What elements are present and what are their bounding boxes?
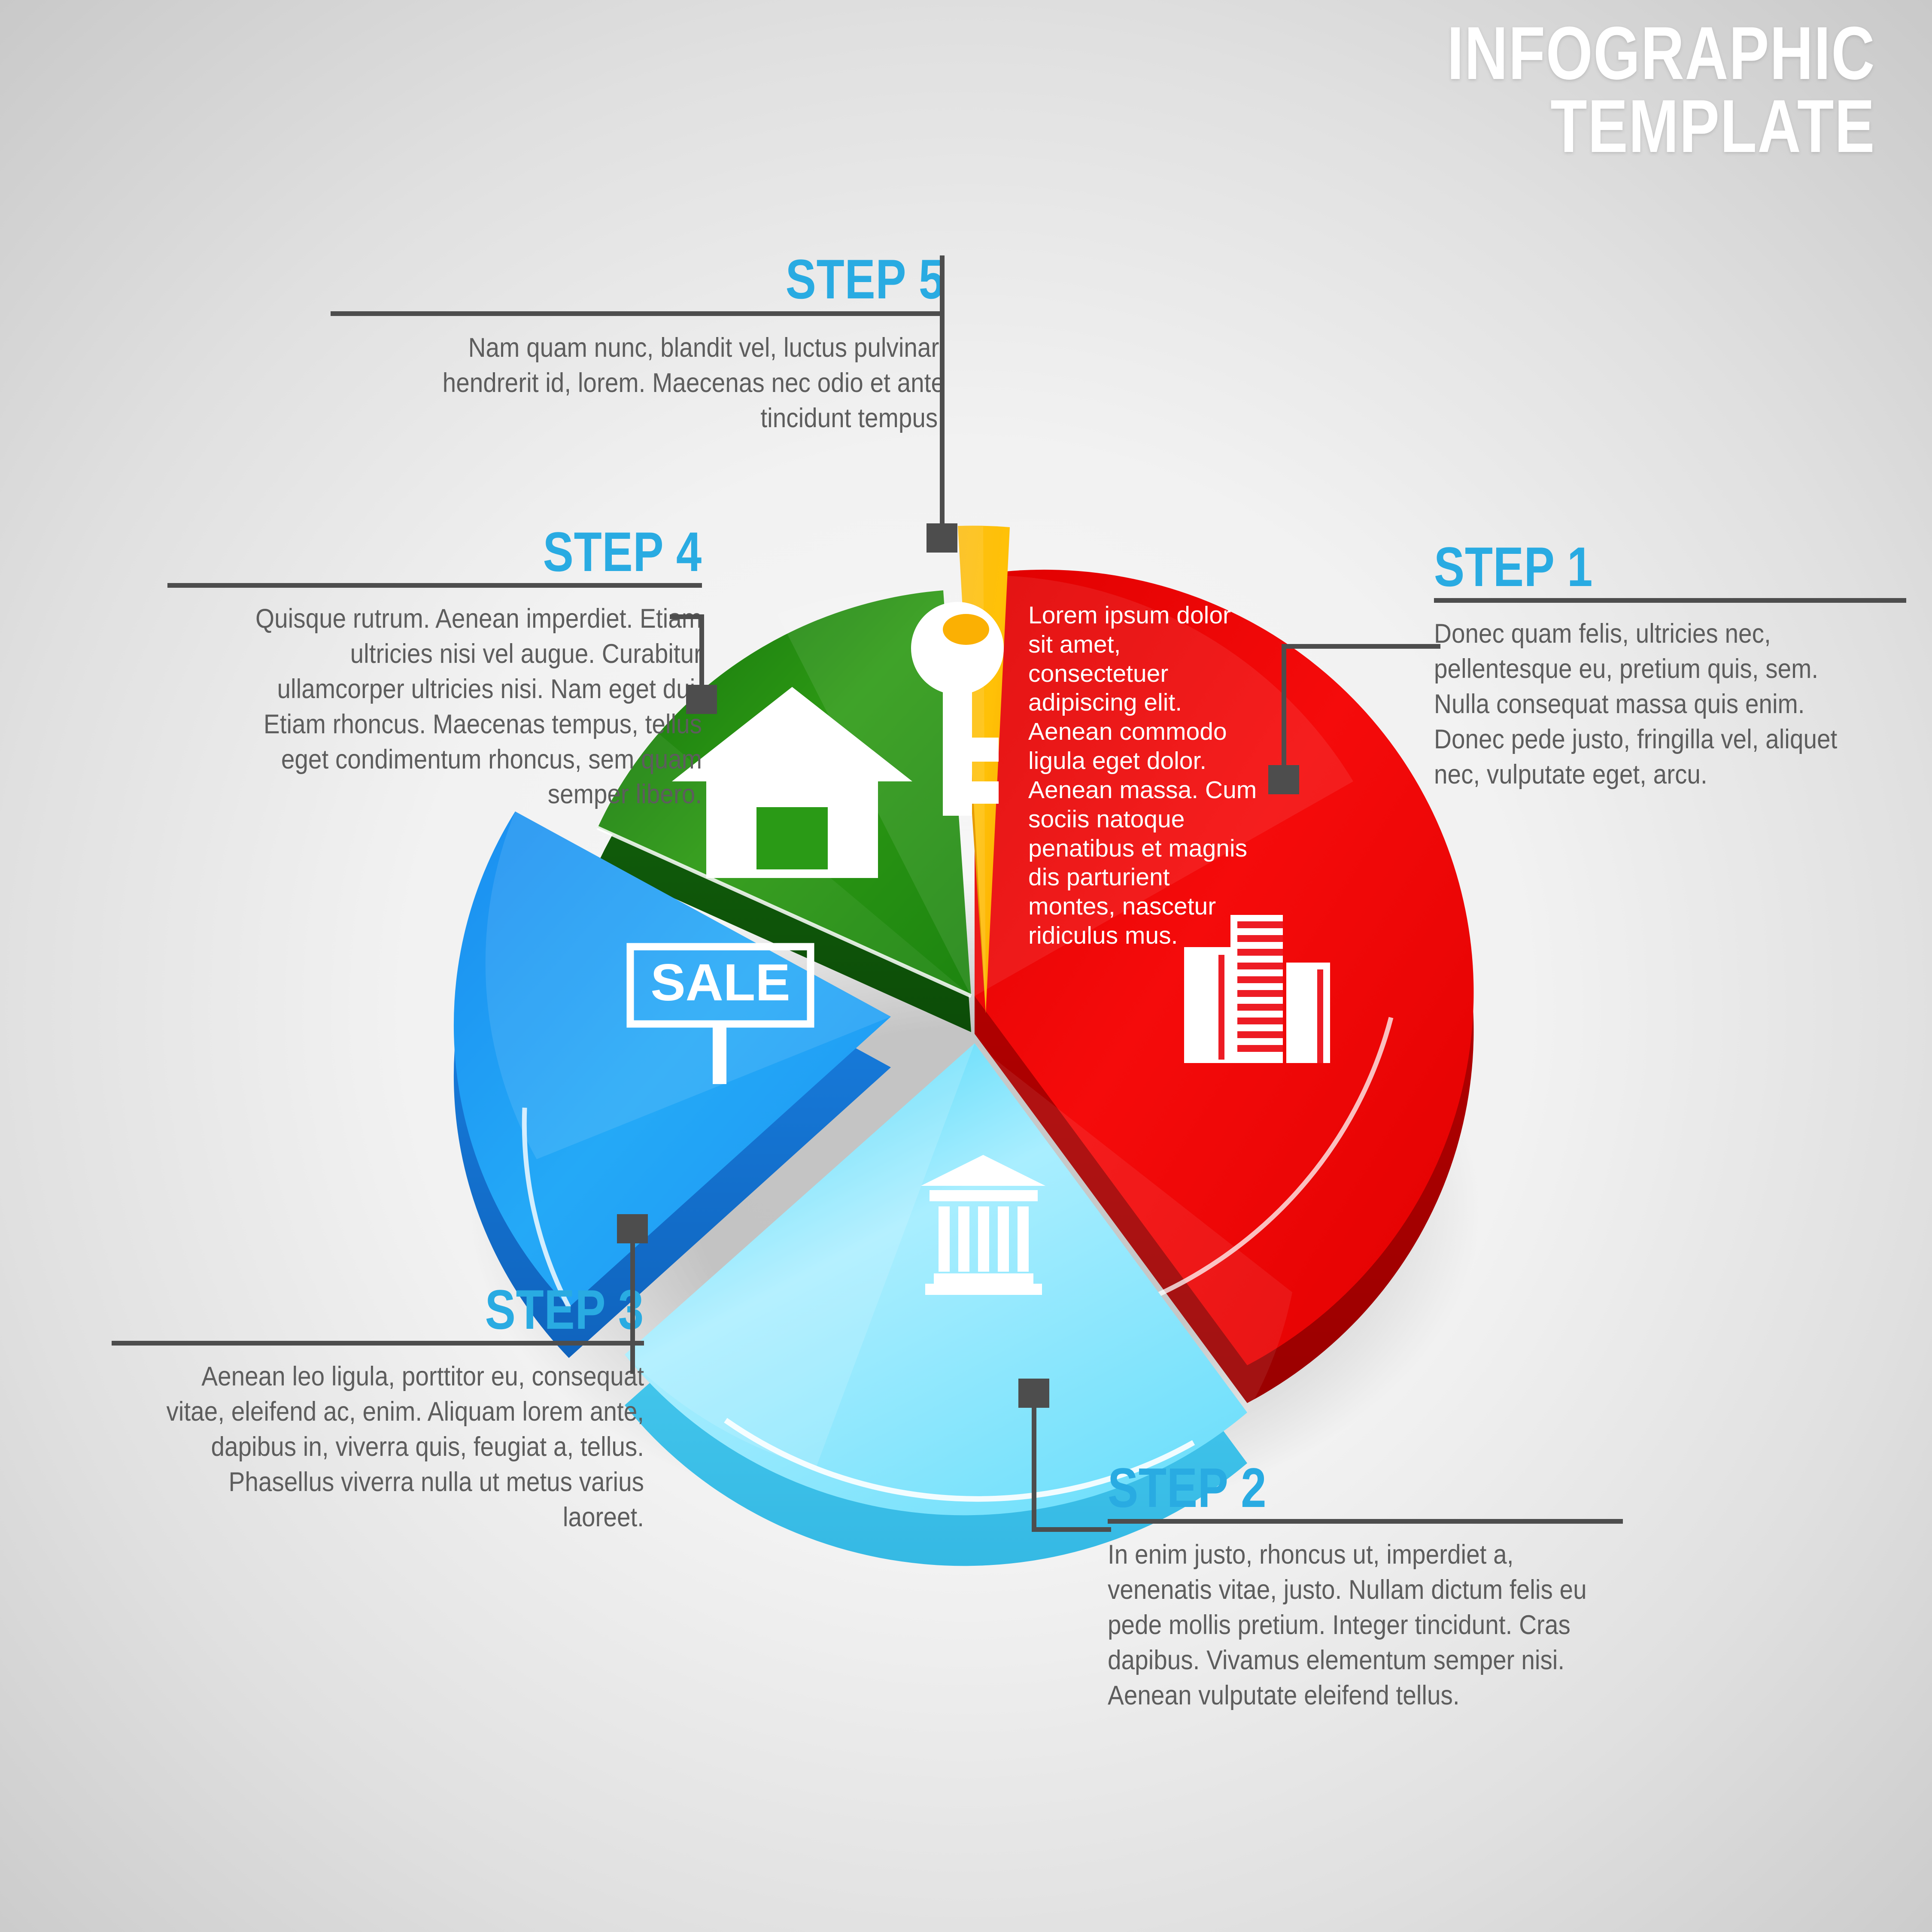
step-5-body: Nam quam nunc, blandit vel, luctus pulvi… xyxy=(392,331,945,436)
step-5-heading: STEP 5 xyxy=(441,251,945,307)
slice-callout-text: Lorem ipsum dolor sit amet, consectetuer… xyxy=(1028,601,1260,951)
sale-sign-label: SALE xyxy=(650,953,790,1012)
page-title-line-2: TEMPLATE xyxy=(1447,90,1875,163)
step-1-connector-h xyxy=(1282,644,1440,649)
step-4-connector-h xyxy=(670,614,704,619)
step-3-connector xyxy=(630,1224,635,1374)
step-2-connector-h xyxy=(1032,1527,1111,1532)
step-4-block: STEP 4 Quisque rutrum. Aenean imperdiet.… xyxy=(167,524,702,812)
page-title-line-1: INFOGRAPHIC xyxy=(1447,12,1875,95)
step-5-rule xyxy=(331,311,945,316)
step-1-block: STEP 1 Donec quam felis, ultricies nec, … xyxy=(1434,539,1906,792)
infographic-canvas: SALE xyxy=(0,0,1932,1932)
step-2-connector-v xyxy=(1032,1406,1036,1532)
step-2-body: In enim justo, rhoncus ut, imperdiet a, … xyxy=(1108,1537,1587,1713)
step-1-rule xyxy=(1434,598,1906,603)
step-3-rule xyxy=(112,1341,644,1346)
step-1-marker xyxy=(1268,765,1299,794)
pie-chart: SALE xyxy=(0,0,1932,1932)
step-3-body: Aenean leo ligula, porttitor eu, consequ… xyxy=(165,1359,644,1535)
step-5-connector xyxy=(940,255,945,526)
step-3-marker xyxy=(617,1214,648,1243)
step-1-connector-v xyxy=(1282,644,1286,768)
step-2-block: STEP 2 In enim justo, rhoncus ut, imperd… xyxy=(1108,1460,1640,1713)
step-1-heading: STEP 1 xyxy=(1434,539,1821,595)
step-5-block: STEP 5 Nam quam nunc, blandit vel, luctu… xyxy=(331,251,945,436)
step-5-marker xyxy=(927,523,957,553)
step-3-heading: STEP 3 xyxy=(207,1282,644,1337)
step-4-marker xyxy=(686,685,717,714)
step-2-marker xyxy=(1018,1379,1049,1408)
step-3-block: STEP 3 Aenean leo ligula, porttitor eu, … xyxy=(112,1282,644,1535)
step-4-connector-v xyxy=(699,614,704,687)
step-1-body: Donec quam felis, ultricies nec, pellent… xyxy=(1434,617,1859,792)
step-4-heading: STEP 4 xyxy=(264,524,702,580)
page-title: INFOGRAPHIC TEMPLATE xyxy=(1447,17,1875,163)
step-4-body: Quisque rutrum. Aenean imperdiet. Etiam … xyxy=(221,601,702,812)
step-2-heading: STEP 2 xyxy=(1108,1460,1544,1516)
step-4-rule xyxy=(167,583,702,588)
step-2-rule xyxy=(1108,1519,1623,1524)
